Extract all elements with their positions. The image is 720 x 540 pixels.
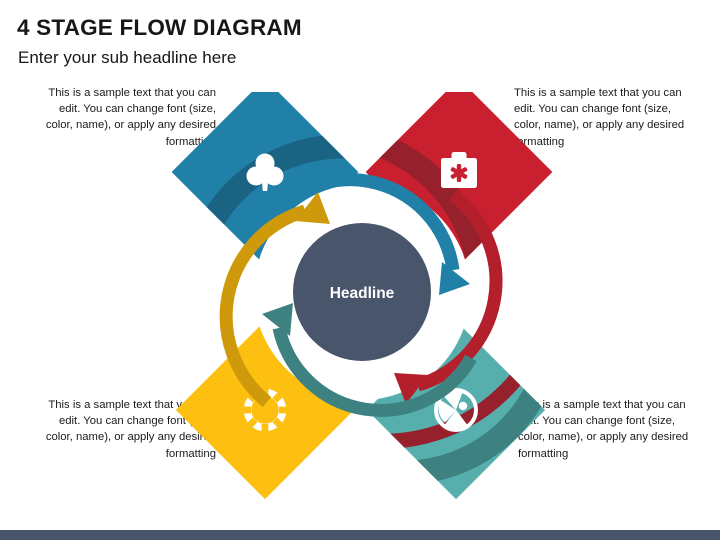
slide-canvas: 4 STAGE FLOW DIAGRAM Enter your sub head… xyxy=(0,0,720,540)
page-subtitle: Enter your sub headline here xyxy=(18,48,236,68)
center-headline-label: Headline xyxy=(330,285,395,302)
four-stage-flow-graphic: Headline xyxy=(172,92,552,502)
footer-bar xyxy=(0,530,720,540)
page-title: 4 STAGE FLOW DIAGRAM xyxy=(17,15,302,41)
